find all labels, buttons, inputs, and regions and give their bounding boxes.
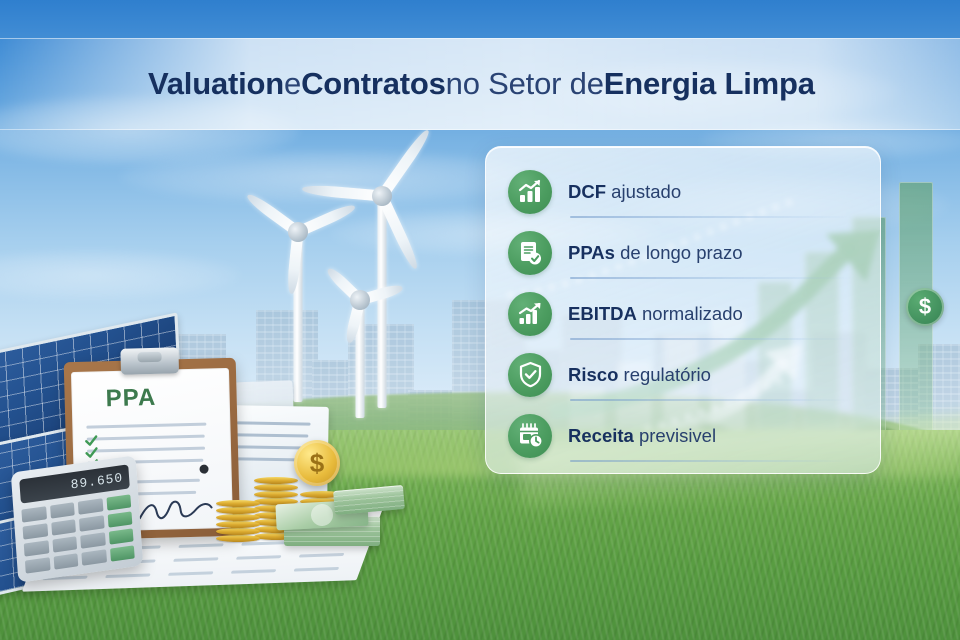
calculator-key[interactable] — [24, 540, 49, 556]
title-segment-3: no Setor de — [446, 66, 604, 102]
calculator-key[interactable] — [80, 532, 105, 548]
calculator-key[interactable] — [53, 553, 78, 569]
feature-label-head: EBITDA — [568, 303, 637, 324]
feature-label-head: DCF — [568, 181, 606, 202]
turbine-hub — [350, 290, 370, 310]
gold-coin — [216, 521, 260, 528]
feature-divider — [570, 460, 852, 462]
document-line — [236, 457, 300, 461]
feature-label-head: Receita — [568, 425, 634, 446]
calculator-key[interactable] — [25, 557, 50, 573]
coin-stack — [216, 498, 260, 542]
table-row — [231, 569, 277, 574]
turbine-hub — [372, 186, 392, 206]
calculator-key[interactable] — [107, 511, 132, 527]
table-row — [105, 573, 151, 578]
calendar-clock-icon — [508, 414, 552, 458]
feature-label-0: DCF ajustado — [568, 181, 681, 203]
gold-coin — [216, 507, 260, 514]
table-row — [299, 553, 345, 558]
feature-row-2[interactable]: EBITDA normalizado — [508, 283, 858, 344]
calculator-key[interactable] — [51, 519, 76, 535]
feature-label-head: PPAs — [568, 242, 615, 263]
chart-growth-icon — [508, 292, 552, 336]
table-row — [236, 555, 282, 560]
table-row — [178, 543, 224, 548]
gold-coin — [254, 484, 298, 491]
title-segment-0: Valuation — [148, 66, 284, 102]
feature-row-3[interactable]: Risco regulatório — [508, 344, 858, 405]
infographic-canvas: $ PPA 89.650 — [0, 0, 960, 640]
calculator-key[interactable] — [21, 506, 46, 522]
turbine-hub — [288, 222, 308, 242]
feature-divider — [570, 216, 852, 218]
document-line — [87, 447, 205, 453]
feature-label-1: PPAs de longo prazo — [568, 242, 743, 264]
calculator-keys — [21, 494, 134, 573]
document-line — [236, 445, 306, 449]
document-line — [87, 435, 205, 441]
shield-check-icon — [508, 353, 552, 397]
feature-label-tail: normalizado — [637, 303, 743, 324]
calculator-key[interactable] — [106, 494, 131, 510]
feature-label-3: Risco regulatório — [568, 364, 711, 386]
gold-coin — [254, 491, 298, 498]
feature-divider — [570, 338, 852, 340]
feature-label-tail: previsivel — [634, 425, 716, 446]
feature-label-4: Receita previsivel — [568, 425, 716, 447]
table-row — [173, 557, 219, 562]
gold-coin — [216, 528, 260, 535]
calculator: 89.650 — [11, 455, 143, 583]
calculator-key[interactable] — [52, 536, 77, 552]
bar-chart-up-icon — [508, 170, 552, 214]
calculator-key[interactable] — [23, 523, 48, 539]
calculator-key[interactable] — [79, 515, 104, 531]
gold-coin — [216, 535, 260, 542]
feature-label-tail: regulatório — [618, 364, 711, 385]
clipboard-clip — [120, 347, 179, 375]
feature-label-tail: ajustado — [606, 181, 681, 202]
document-check-icon — [508, 231, 552, 275]
feature-row-4[interactable]: Receita previsivel — [508, 405, 858, 466]
calculator-key[interactable] — [78, 498, 103, 514]
table-row — [294, 567, 340, 572]
ppa-label: PPA — [105, 384, 156, 413]
document-line — [86, 423, 206, 429]
title-segment-2: Contratos — [301, 66, 446, 102]
table-row — [168, 571, 214, 576]
title-segment-4: Energia Limpa — [604, 66, 815, 102]
feature-label-head: Risco — [568, 364, 618, 385]
seal-dot — [199, 465, 208, 474]
feature-label-tail: de longo prazo — [615, 242, 743, 263]
feature-label-2: EBITDA normalizado — [568, 303, 743, 325]
gold-coin — [216, 500, 260, 507]
document-line — [236, 433, 308, 437]
calculator-key[interactable] — [108, 528, 133, 544]
feature-divider — [570, 277, 852, 279]
gold-coin — [216, 514, 260, 521]
signature-icon — [136, 496, 215, 524]
gold-coin: $ — [294, 440, 340, 486]
dollar-badge: $ — [906, 288, 944, 326]
page-title: Valuation e Contratos no Setor de Energi… — [0, 38, 960, 130]
feature-row-1[interactable]: PPAs de longo prazo — [508, 222, 858, 283]
feature-divider — [570, 399, 852, 401]
calculator-key[interactable] — [81, 549, 106, 565]
calculator-key[interactable] — [110, 545, 135, 561]
gold-coin — [254, 477, 298, 484]
feature-row-0[interactable]: DCF ajustado — [508, 161, 858, 222]
title-segment-1: e — [284, 66, 301, 102]
calculator-key[interactable] — [50, 502, 75, 518]
feature-panel: DCF ajustadoPPAs de longo prazoEBITDA no… — [485, 146, 881, 474]
foreground-props: PPA 89.650 $ — [48, 352, 388, 582]
document-line — [237, 421, 311, 425]
